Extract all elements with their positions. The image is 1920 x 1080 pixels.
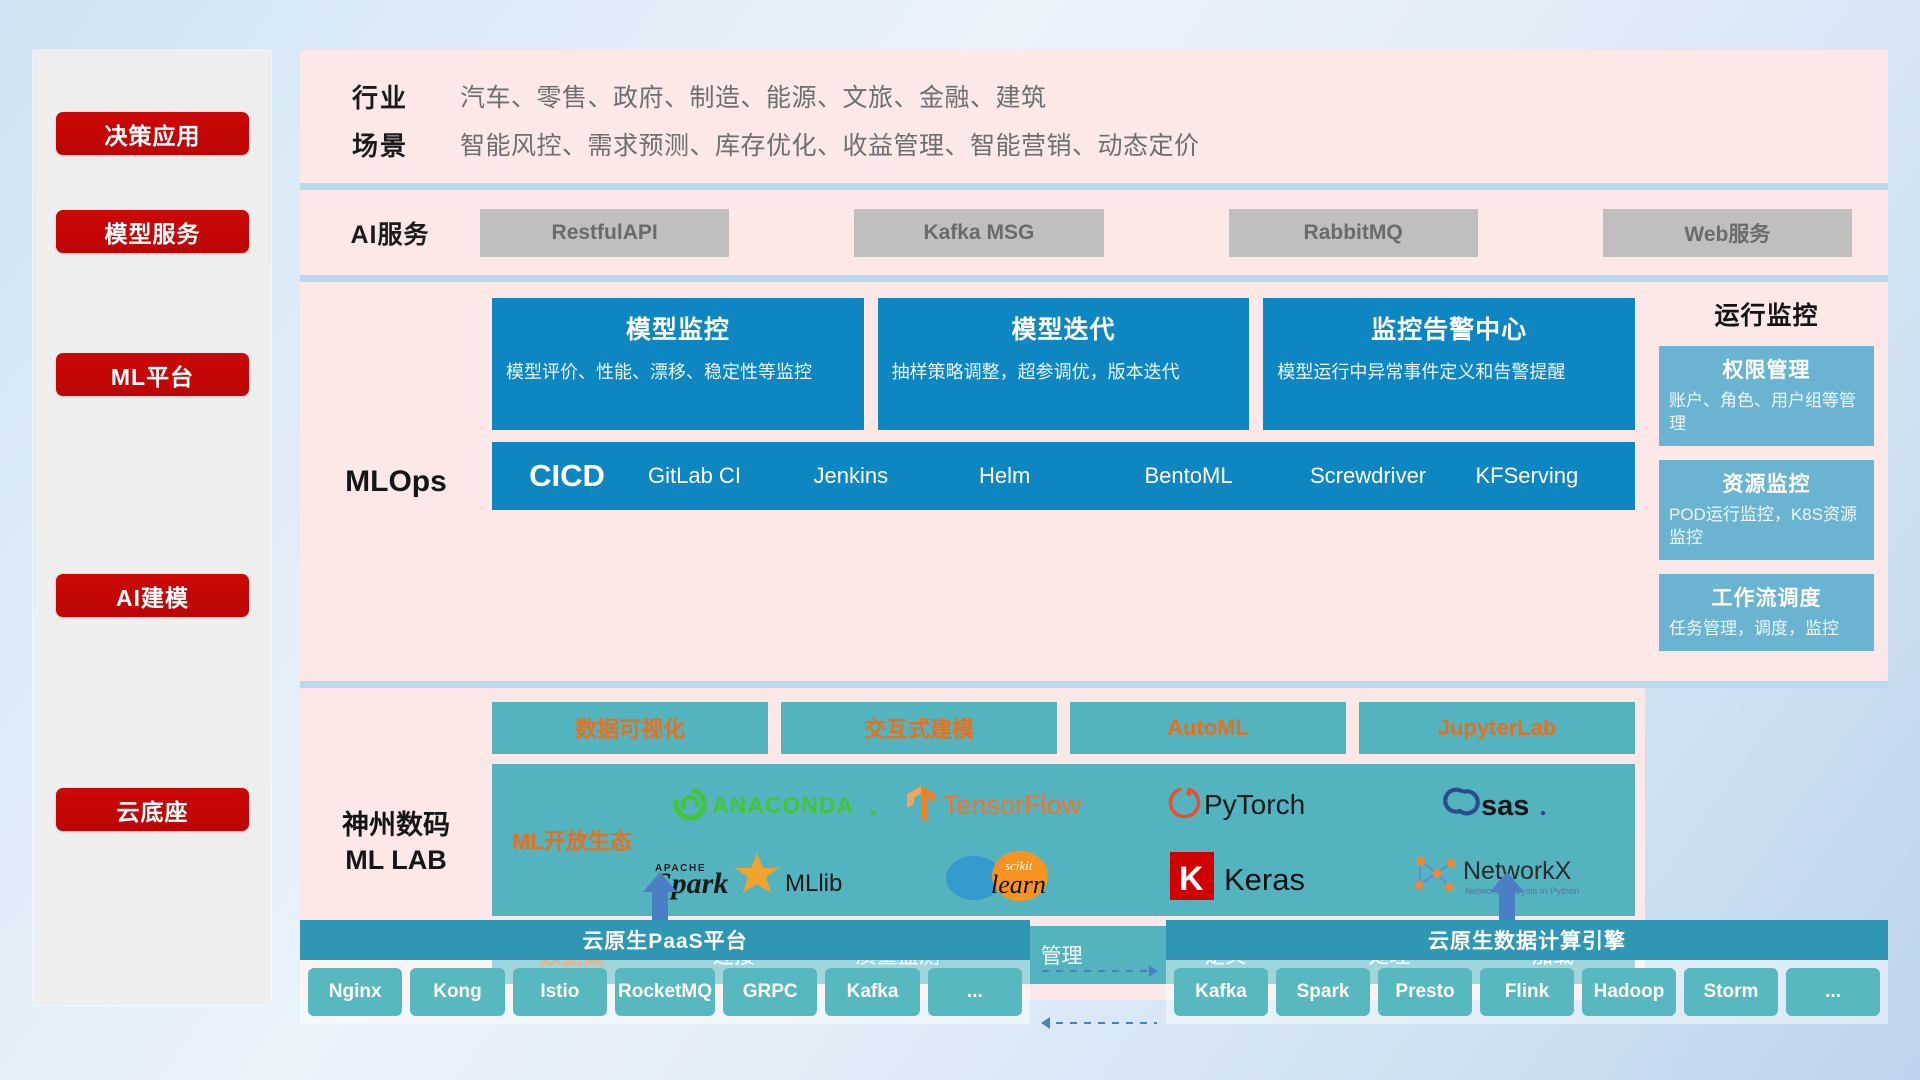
cicd-item-jenkins[interactable]: Jenkins [808, 464, 974, 487]
cicd-item-kfserving[interactable]: KFServing [1470, 464, 1636, 487]
chip-spark[interactable]: Spark [1276, 968, 1370, 1016]
chip-more-data[interactable]: ... [1786, 968, 1880, 1016]
cicd-bar: CICD GitLab CI Jenkins Helm BentoML Scre… [492, 442, 1635, 510]
runtime-monitor-panel: 运行监控 权限管理 账户、角色、用户组等管理 资源监控 POD运行监控，K8S资… [1645, 282, 1888, 681]
mlops-card-alert-center[interactable]: 监控告警中心 模型运行中异常事件定义和告警提醒 [1263, 298, 1635, 430]
rail-label: AI建模 [116, 579, 189, 613]
svg-text:sas: sas [1481, 790, 1529, 822]
monitor-title: 运行监控 [1659, 296, 1874, 332]
logo-row-1: ANACONDA TensorFlow [652, 770, 1635, 838]
cloud-paas-box: 云原生PaaS平台 Nginx Kong Istio RocketMQ GRPC… [300, 920, 1030, 1024]
diagram-canvas: 决策应用 模型服务 ML平台 AI建模 云底座 行业 汽车、零售、政府、制造、能… [0, 0, 1920, 1080]
ai-service-label: AI服务 [300, 215, 480, 251]
ai-service-buttons: RestfulAPI Kafka MSG RabbitMQ Web服务 [480, 209, 1888, 257]
card-title: 权限管理 [1669, 354, 1864, 384]
tool-interactive-modeling[interactable]: 交互式建模 [781, 702, 1057, 754]
cloud-data-title: 云原生数据计算引擎 [1166, 920, 1888, 960]
tensorflow-logo: TensorFlow [898, 783, 1144, 825]
chip-more[interactable]: ... [928, 968, 1022, 1016]
cloud-data-box: 云原生数据计算引擎 Kafka Spark Presto Flink Hadoo… [1166, 920, 1888, 1024]
card-title: 工作流调度 [1669, 582, 1864, 612]
ai-service-kafka-msg[interactable]: Kafka MSG [854, 209, 1103, 257]
cicd-item-gitlab-ci[interactable]: GitLab CI [642, 464, 808, 487]
cicd-item-helm[interactable]: Helm [973, 464, 1139, 487]
rail-label: 模型服务 [105, 215, 201, 249]
rail-item-model-service[interactable]: 模型服务 [56, 210, 249, 253]
chip-flink[interactable]: Flink [1480, 968, 1574, 1016]
chip-nginx[interactable]: Nginx [308, 968, 402, 1016]
scenario-label: 场景 [300, 126, 460, 163]
ml-platform-band: MLOps 模型监控 模型评价、性能、漂移、稳定性等监控 模型迭代 抽样策略调整… [300, 275, 1888, 681]
card-desc: 账户、角色、用户组等管理 [1669, 390, 1864, 436]
industry-label: 行业 [300, 78, 460, 115]
card-title: 监控告警中心 [1277, 310, 1621, 346]
sas-logo: sas [1389, 783, 1635, 825]
industry-row: 行业 汽车、零售、政府、制造、能源、文旅、金融、建筑 [300, 72, 1888, 120]
rail-label: 云底座 [117, 793, 189, 827]
mlops-body: 模型监控 模型评价、性能、漂移、稳定性等监控 模型迭代 抽样策略调整，超参调优，… [492, 298, 1645, 667]
pytorch-logo: PyTorch [1144, 783, 1390, 825]
svg-text:ANACONDA: ANACONDA [712, 792, 854, 818]
chip-kafka-data[interactable]: Kafka [1174, 968, 1268, 1016]
card-desc: 抽样策略调整，超参调优，版本迭代 [892, 360, 1236, 385]
main-stack: 行业 汽车、零售、政府、制造、能源、文旅、金融、建筑 场景 智能风控、需求预测、… [300, 50, 1888, 1000]
cicd-item-screwdriver[interactable]: Screwdriver [1304, 464, 1470, 487]
svg-text:PyTorch: PyTorch [1204, 789, 1305, 820]
ai-service-restfulapi[interactable]: RestfulAPI [480, 209, 729, 257]
industry-value: 汽车、零售、政府、制造、能源、文旅、金融、建筑 [460, 78, 1047, 114]
cloud-base-section: 云原生PaaS平台 Nginx Kong Istio RocketMQ GRPC… [300, 872, 1888, 1032]
mlops-label: MLOps [300, 298, 492, 667]
cicd-item-bentoml[interactable]: BentoML [1139, 464, 1305, 487]
cicd-title: CICD [492, 458, 642, 494]
cicd-item-list: GitLab CI Jenkins Helm BentoML Screwdriv… [642, 464, 1635, 487]
ai-service-web-service[interactable]: Web服务 [1603, 209, 1852, 257]
rail-item-ai-modeling[interactable]: AI建模 [56, 574, 249, 617]
rail-label: ML平台 [111, 358, 194, 392]
mlops-card-list: 模型监控 模型评价、性能、漂移、稳定性等监控 模型迭代 抽样策略调整，超参调优，… [492, 298, 1635, 430]
ecosystem-label: ML开放生态 [492, 824, 652, 856]
chip-rocketmq[interactable]: RocketMQ [615, 968, 715, 1016]
card-desc: 任务管理，调度，监控 [1669, 618, 1864, 641]
card-desc: POD运行监控，K8S资源监控 [1669, 504, 1864, 550]
card-title: 模型迭代 [892, 310, 1236, 346]
rail-item-cloud-base[interactable]: 云底座 [56, 788, 249, 831]
mlops-card-model-monitoring[interactable]: 模型监控 模型评价、性能、漂移、稳定性等监控 [492, 298, 864, 430]
anaconda-logo: ANACONDA [652, 784, 898, 824]
scenario-row: 场景 智能风控、需求预测、库存优化、收益管理、智能营销、动态定价 [300, 120, 1888, 168]
tool-jupyterlab[interactable]: JupyterLab [1359, 702, 1635, 754]
rail-item-ml-platform[interactable]: ML平台 [56, 353, 249, 396]
monitor-card-permission[interactable]: 权限管理 账户、角色、用户组等管理 [1659, 346, 1874, 446]
mlops-card-model-iteration[interactable]: 模型迭代 抽样策略调整，超参调优，版本迭代 [878, 298, 1250, 430]
mllab-label-line1: 神州数码 [342, 808, 450, 843]
monitor-card-workflow[interactable]: 工作流调度 任务管理，调度，监控 [1659, 574, 1874, 651]
chip-grpc[interactable]: GRPC [723, 968, 817, 1016]
arrow-up-data-icon [1490, 872, 1524, 920]
layer-rail: 决策应用 模型服务 ML平台 AI建模 云底座 [33, 50, 271, 1005]
card-desc: 模型运行中异常事件定义和告警提醒 [1277, 360, 1621, 385]
chip-kafka[interactable]: Kafka [825, 968, 919, 1016]
mllab-tool-list: 数据可视化 交互式建模 AutoML JupyterLab [492, 702, 1635, 754]
rail-item-decision-app[interactable]: 决策应用 [56, 112, 249, 155]
chip-storm[interactable]: Storm [1684, 968, 1778, 1016]
chip-kong[interactable]: Kong [410, 968, 504, 1016]
rail-label: 决策应用 [105, 117, 201, 151]
card-desc: 模型评价、性能、漂移、稳定性等监控 [506, 360, 850, 385]
arrow-up-paas-icon [643, 872, 677, 920]
scenario-value: 智能风控、需求预测、库存优化、收益管理、智能营销、动态定价 [460, 126, 1200, 162]
monitor-card-resource[interactable]: 资源监控 POD运行监控，K8S资源监控 [1659, 460, 1874, 560]
ai-service-rabbitmq[interactable]: RabbitMQ [1229, 209, 1478, 257]
mlops-section: MLOps 模型监控 模型评价、性能、漂移、稳定性等监控 模型迭代 抽样策略调整… [300, 282, 1645, 681]
card-title: 模型监控 [506, 310, 850, 346]
cloud-paas-title: 云原生PaaS平台 [300, 920, 1030, 960]
dashed-arrow-right-icon [1042, 970, 1157, 972]
chip-hadoop[interactable]: Hadoop [1582, 968, 1676, 1016]
cloud-paas-chip-list: Nginx Kong Istio RocketMQ GRPC Kafka ... [300, 960, 1030, 1024]
chip-istio[interactable]: Istio [513, 968, 607, 1016]
svg-text:TensorFlow: TensorFlow [943, 790, 1082, 820]
dashed-arrow-left-icon [1042, 1022, 1157, 1024]
cloud-data-chip-list: Kafka Spark Presto Flink Hadoop Storm ..… [1166, 960, 1888, 1024]
tool-automl[interactable]: AutoML [1070, 702, 1346, 754]
tool-data-visualization[interactable]: 数据可视化 [492, 702, 768, 754]
chip-presto[interactable]: Presto [1378, 968, 1472, 1016]
card-title: 资源监控 [1669, 468, 1864, 498]
ai-service-band: AI服务 RestfulAPI Kafka MSG RabbitMQ Web服务 [300, 183, 1888, 275]
decision-app-band: 行业 汽车、零售、政府、制造、能源、文旅、金融、建筑 场景 智能风控、需求预测、… [300, 50, 1888, 183]
